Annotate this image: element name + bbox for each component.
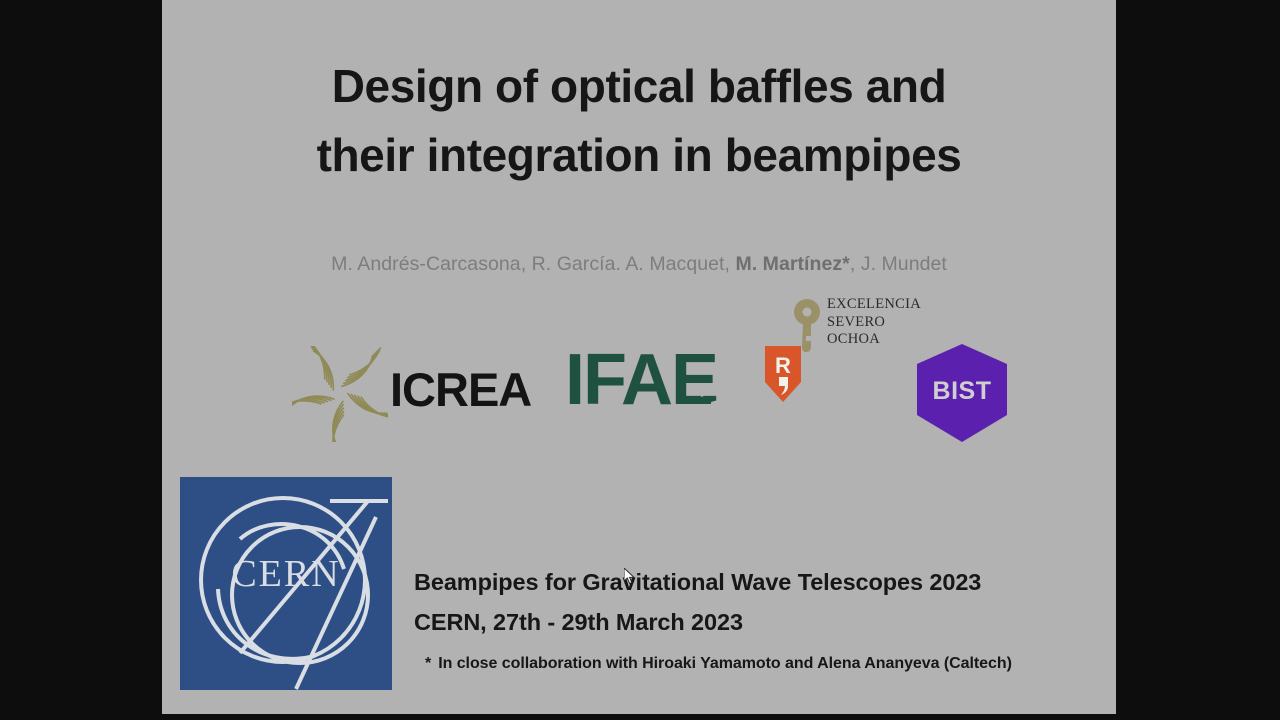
- severo-ochoa-line-1: EXCELENCIA: [827, 296, 921, 314]
- ifae-slash-overlay-icon: [681, 346, 771, 438]
- cern-wordmark: CERN: [180, 552, 392, 596]
- severo-ochoa-key-icon: [792, 298, 822, 354]
- author-list-after-bold: , J. Mundet: [850, 253, 947, 275]
- severo-ochoa-line-2: SEVERO: [827, 314, 921, 332]
- ifae-logo: IFAE R: [565, 344, 802, 440]
- bist-wordmark: BIST: [912, 377, 1012, 406]
- institution-logo-strip: ICREA IFAE R: [292, 296, 1092, 448]
- icrea-wordmark: ICREA: [390, 362, 531, 417]
- slide-title-line-1: Design of optical baffles and: [162, 52, 1116, 121]
- conference-info: Beampipes for Gravitational Wave Telesco…: [414, 562, 981, 643]
- bist-logo: BIST: [912, 343, 1012, 443]
- presentation-slide: Design of optical baffles and their inte…: [162, 0, 1116, 714]
- footnote-text: In close collaboration with Hiroaki Yama…: [438, 655, 1012, 672]
- author-list-before-bold: M. Andrés-Carcasona, R. García. A. Macqu…: [331, 253, 735, 275]
- cern-logo: CERN: [180, 477, 392, 690]
- conference-venue-dates: CERN, 27th - 29th March 2023: [414, 602, 981, 642]
- icrea-pinwheel-icon: [292, 346, 388, 442]
- severo-ochoa-line-3: OCHOA: [827, 331, 921, 349]
- svg-text:R: R: [775, 353, 791, 378]
- icrea-logo: ICREA: [292, 344, 527, 444]
- slide-title-line-2: their integration in beampipes: [162, 121, 1116, 190]
- footnote-marker: *: [425, 655, 431, 672]
- author-list: M. Andrés-Carcasona, R. García. A. Macqu…: [162, 253, 1116, 276]
- severo-ochoa-text: EXCELENCIA SEVERO OCHOA: [827, 296, 921, 349]
- conference-title: Beampipes for Gravitational Wave Telesco…: [414, 562, 981, 602]
- slide-viewer: Design of optical baffles and their inte…: [0, 0, 1280, 720]
- slide-title: Design of optical baffles and their inte…: [162, 52, 1116, 190]
- author-presenter: M. Martínez*: [735, 253, 849, 275]
- collaboration-footnote: *In close collaboration with Hiroaki Yam…: [425, 655, 1012, 673]
